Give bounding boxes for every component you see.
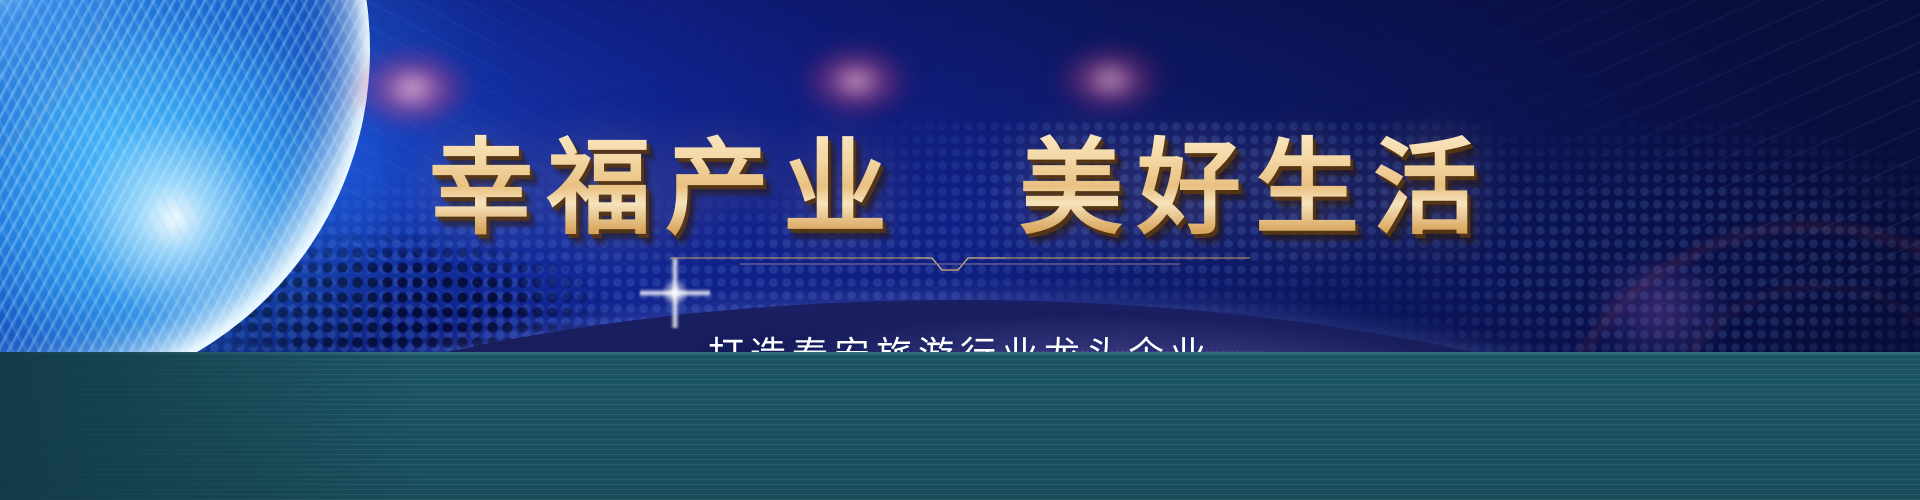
- banner-hero: 幸福产业 美好生活 打造泰安旅游行业龙头企业: [0, 0, 1920, 500]
- page-title: 幸福产业 美好生活: [0, 128, 1920, 251]
- teal-footer-left-shade: [0, 352, 420, 500]
- divider-ornament: [670, 250, 1250, 276]
